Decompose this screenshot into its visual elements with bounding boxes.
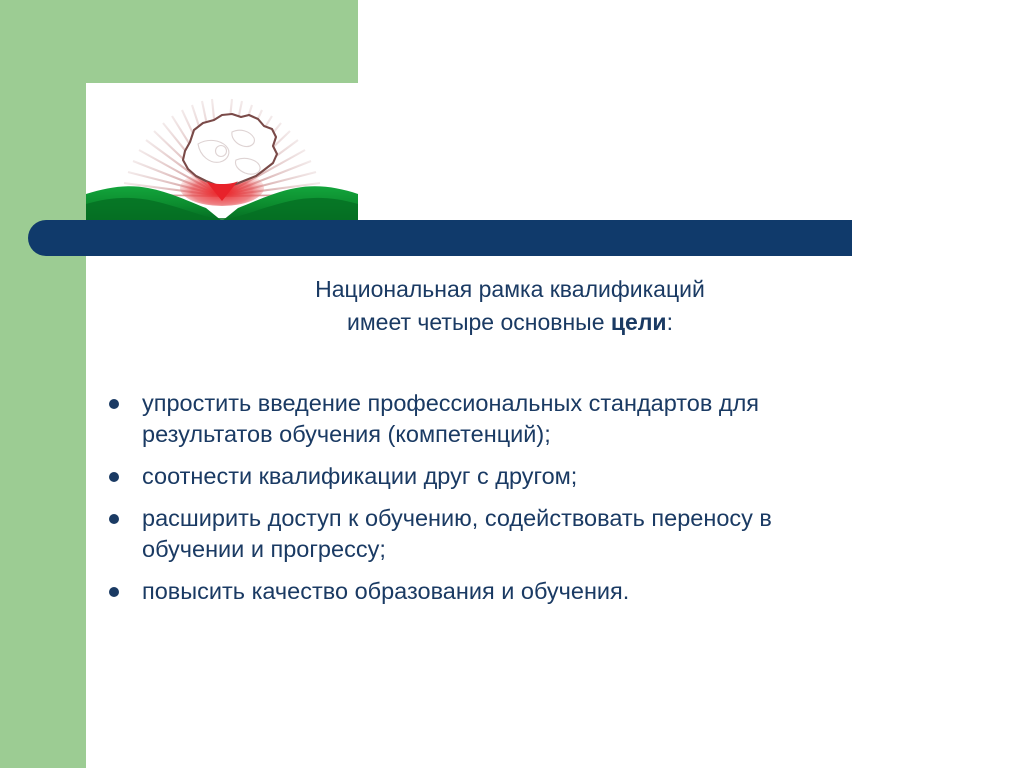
list-item: упростить введение профессиональных стан… bbox=[100, 388, 930, 450]
bullet-marker bbox=[100, 576, 142, 597]
green-top-band-decoration bbox=[86, 0, 358, 83]
list-item-label: повысить качество образования и обучения… bbox=[142, 576, 930, 607]
slide-title: Национальная рамка квалификаций имеет че… bbox=[110, 273, 910, 339]
title-line-1: Национальная рамка квалификаций bbox=[110, 273, 910, 306]
bullet-marker bbox=[100, 388, 142, 409]
title-accent-bar bbox=[28, 220, 852, 256]
list-item-label: упростить введение профессиональных стан… bbox=[142, 388, 930, 450]
bullet-dot-icon bbox=[109, 399, 119, 409]
bullet-dot-icon bbox=[109, 514, 119, 524]
green-sidebar-decoration bbox=[0, 0, 86, 768]
list-item: расширить доступ к обучению, содействова… bbox=[100, 503, 930, 565]
list-item: повысить качество образования и обучения… bbox=[100, 576, 930, 607]
belarus-state-emblem-image bbox=[86, 84, 358, 221]
bullet-marker bbox=[100, 503, 142, 524]
title-line-2-tail: : bbox=[667, 309, 673, 335]
list-item: соотнести квалификации друг с другом; bbox=[100, 461, 930, 492]
bullet-marker bbox=[100, 461, 142, 482]
list-item-label: расширить доступ к обучению, содействова… bbox=[142, 503, 930, 565]
bullet-dot-icon bbox=[109, 587, 119, 597]
title-keyword-goals: цели bbox=[611, 309, 667, 335]
title-line-2-lead: имеет четыре основные bbox=[347, 309, 611, 335]
list-item-label: соотнести квалификации друг с другом; bbox=[142, 461, 930, 492]
goals-bullet-list: упростить введение профессиональных стан… bbox=[100, 388, 930, 618]
slide-canvas: Национальная рамка квалификаций имеет че… bbox=[0, 0, 1024, 768]
title-line-2: имеет четыре основные цели: bbox=[110, 306, 910, 339]
bullet-dot-icon bbox=[109, 472, 119, 482]
